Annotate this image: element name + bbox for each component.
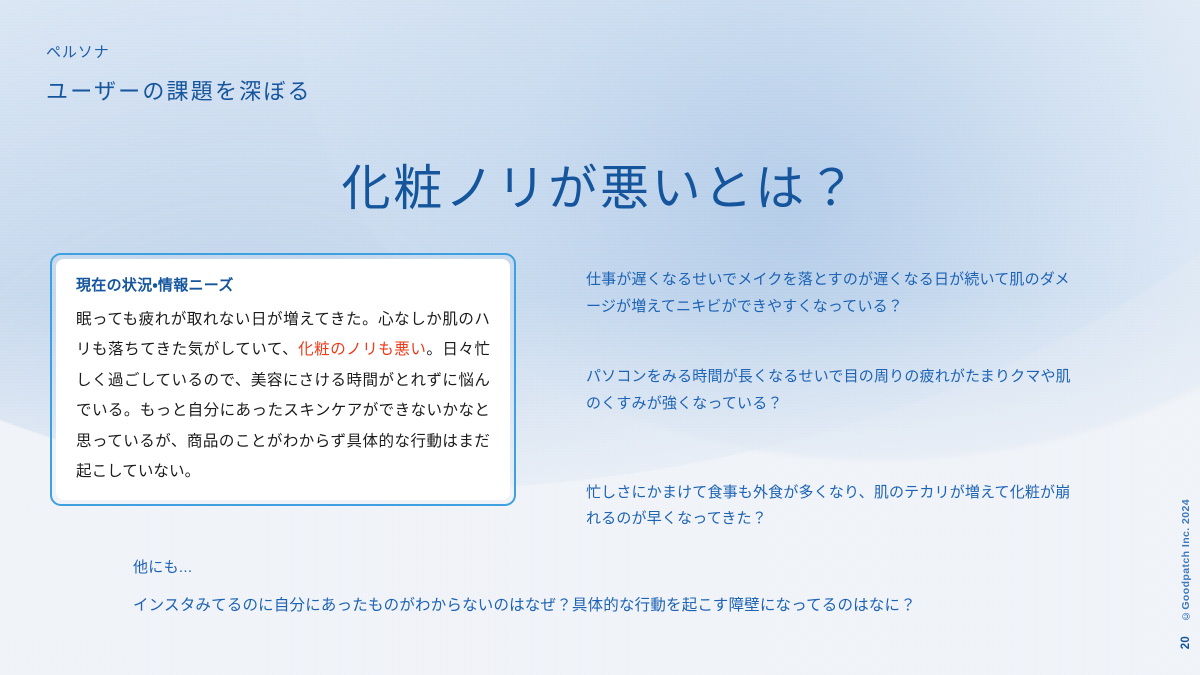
question-item: 忙しさにかまけて食事も外食が多くなり、肌のテカリが増えて化粧が崩れるのが早くなっ… (586, 480, 1082, 533)
other-label: 他にも... (133, 556, 192, 577)
slide-subtitle: ユーザーの課題を深ぼる (46, 74, 312, 106)
question-item: 仕事が遅くなるせいでメイクを落とすのが遅くなる日が続いて肌のダメージが増えてニキ… (586, 267, 1082, 320)
card-body-highlight: 化粧のノリも悪い (298, 341, 426, 358)
card-body-text: 眠っても疲れが取れない日が増えてきた。心なしか肌のハリも落ちてきた気がしていて、… (76, 305, 490, 487)
eyebrow-label: ペルソナ (46, 41, 110, 62)
question-item: パソコンをみる時間が長くなるせいで目の周りの疲れがたまりクマや肌のくすみが強くな… (586, 364, 1082, 417)
page-title: 化粧ノリが悪いとは？ (0, 149, 1200, 220)
slide-root: ペルソナ ユーザーの課題を深ぼる 化粧ノリが悪いとは？ 現在の状況・情報ニーズ … (0, 0, 1200, 675)
question-list: 仕事が遅くなるせいでメイクを落とすのが遅くなる日が続いて肌のダメージが増えてニキ… (586, 252, 1082, 533)
card-heading: 現在の状況・情報ニーズ (76, 274, 490, 295)
other-text: インスタみてるのに自分にあったものがわからないのはなぜ？具体的な行動を起こす障壁… (133, 593, 916, 615)
copyright-text: ©Goodpatch Inc. 2024 (1180, 499, 1192, 622)
side-footer: ©Goodpatch Inc. 2024 20 (1180, 499, 1192, 649)
page-number: 20 (1180, 636, 1192, 649)
card-body-part2: 。日々忙しく過ごしているので、美容にさける時間がとれずに悩んでいる。もっと自分に… (76, 341, 490, 480)
card-inner-panel: 現在の状況・情報ニーズ 眠っても疲れが取れない日が増えてきた。心なしか肌のハリも… (56, 259, 510, 500)
current-situation-card: 現在の状況・情報ニーズ 眠っても疲れが取れない日が増えてきた。心なしか肌のハリも… (50, 253, 516, 506)
